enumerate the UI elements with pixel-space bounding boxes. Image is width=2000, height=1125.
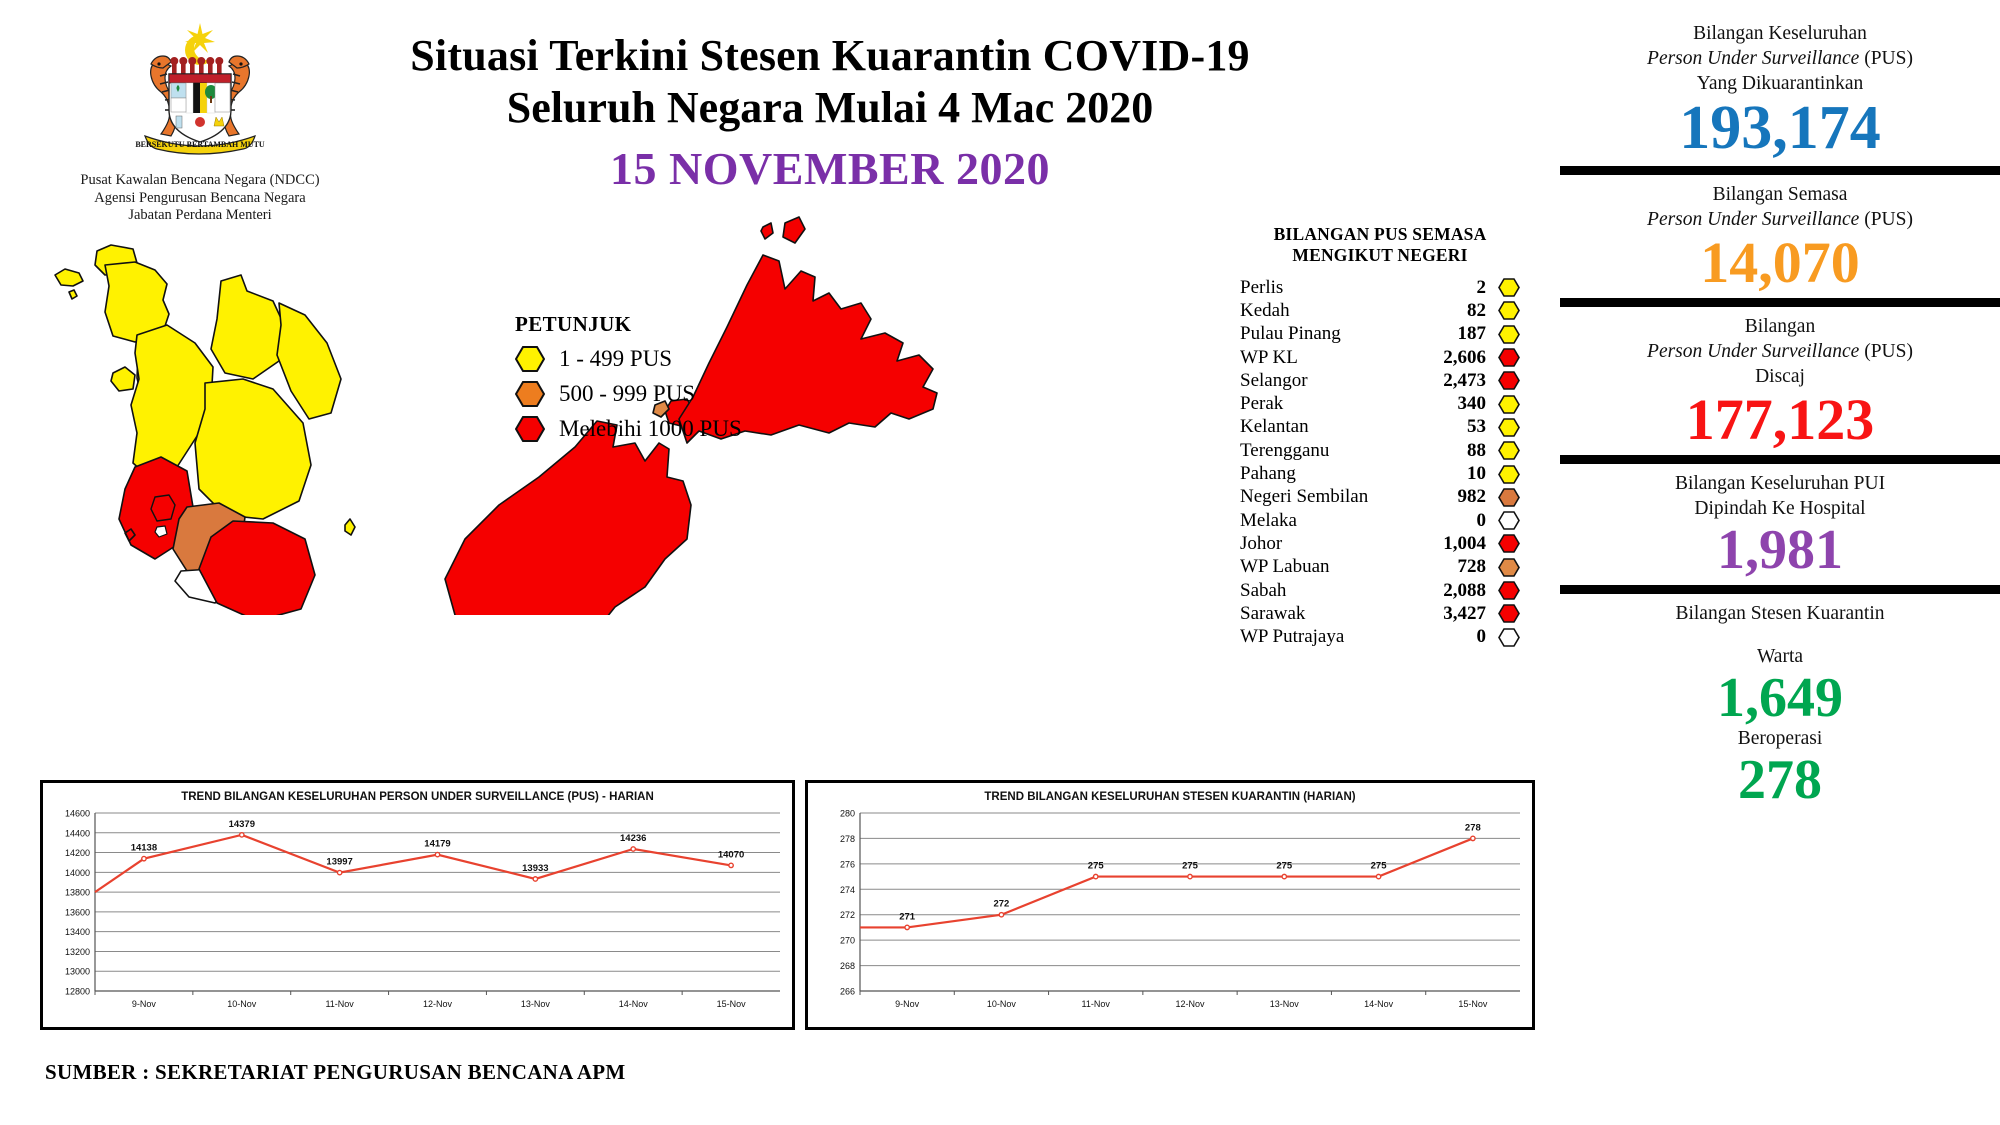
legend-label-yellow: 1 - 499 PUS (559, 346, 672, 372)
state-value: 340 (1416, 393, 1498, 415)
chart-x-tick-label: 11-Nov (1082, 999, 1111, 1009)
source-footer: SUMBER : SEKRETARIAT PENGURUSAN BENCANA … (45, 1060, 626, 1085)
state-name: Kedah (1240, 300, 1416, 322)
infographic-page: BERSEKUTU BERTAMBAH MUTU Pusat Kawalan B… (0, 0, 2000, 1125)
legend-item-orange: 500 - 999 PUS (515, 381, 742, 407)
state-row: Sarawak3,427 (1240, 602, 1520, 625)
state-name: Melaka (1240, 510, 1416, 532)
summary-stat-block: Bilangan SemasaPerson Under Surveillance… (1560, 183, 2000, 292)
chart-x-tick-label: 12-Nov (423, 999, 453, 1009)
chart-y-tick-label: 13200 (65, 947, 90, 957)
stations-title: Bilangan Stesen Kuarantin (1560, 602, 2000, 627)
state-status-hexagon-icon (1498, 371, 1520, 390)
state-row: Sabah2,088 (1240, 579, 1520, 602)
chart-title: TREND BILANGAN KESELURUHAN PERSON UNDER … (181, 791, 654, 803)
legend-label-orange: 500 - 999 PUS (559, 381, 695, 407)
state-status-hexagon-icon (1498, 628, 1520, 647)
state-row: Kelantan53 (1240, 416, 1520, 439)
state-name: WP KL (1240, 347, 1416, 369)
chart-data-point (337, 870, 341, 874)
chart-data-label: 14236 (620, 833, 646, 844)
state-row: Pahang10 (1240, 462, 1520, 485)
chart-data-label: 14070 (718, 849, 744, 860)
chart-data-label: 14179 (424, 839, 450, 850)
legend-label-red: Melebihi 1000 PUS (559, 416, 742, 442)
summary-stat-value: 14,070 (1560, 233, 2000, 292)
crest-caption-line2: Agensi Pengurusan Bencana Negara (60, 190, 340, 208)
state-row: Melaka0 (1240, 509, 1520, 532)
map-region-banggi-island (783, 217, 805, 243)
chart-y-tick-label: 13400 (65, 927, 90, 937)
chart-data-label: 275 (1182, 861, 1199, 872)
state-status-hexagon-icon (1498, 441, 1520, 460)
quarantine-stations-block: Bilangan Stesen Kuarantin Warta 1,649 Be… (1560, 602, 2000, 809)
divider-rule (1560, 166, 2000, 175)
chart-data-point (631, 847, 635, 851)
state-name: Terengganu (1240, 440, 1416, 462)
state-value: 82 (1416, 300, 1498, 322)
state-name: Kelantan (1240, 416, 1416, 438)
legend-hexagon-icon-yellow (515, 346, 545, 372)
map-region-pahang (195, 379, 311, 519)
chart-data-point (1188, 874, 1192, 878)
chart-data-point (1282, 874, 1286, 878)
legend-title: PETUNJUK (515, 312, 742, 337)
chart-data-point (1471, 836, 1475, 840)
state-name: Pahang (1240, 463, 1416, 485)
map-region-wp-kl (151, 495, 175, 521)
map-region-penang-island (111, 367, 135, 391)
chart-y-tick-label: 13800 (65, 888, 90, 898)
chart-y-tick-label: 266 (840, 987, 855, 997)
chart-y-tick-label: 268 (840, 961, 855, 971)
state-table-title: BILANGAN PUS SEMASA MENGIKUT NEGERI (1240, 224, 1520, 266)
state-row: WP Labuan728 (1240, 556, 1520, 579)
chart-data-point (142, 856, 146, 860)
state-value: 0 (1416, 626, 1498, 648)
state-row: Negeri Sembilan982 (1240, 486, 1520, 509)
summary-stat-block: BilanganPerson Under Surveillance (PUS)D… (1560, 315, 2000, 449)
chart-x-tick-label: 10-Nov (227, 999, 257, 1009)
map-region-johor (199, 521, 315, 615)
chart-data-point (1376, 874, 1380, 878)
state-row: Selangor2,473 (1240, 369, 1520, 392)
state-value: 728 (1416, 556, 1498, 578)
summary-stat-label-line2: Person Under Surveillance (PUS) (1560, 340, 2000, 365)
state-status-hexagon-icon (1498, 418, 1520, 437)
chart-y-tick-label: 13000 (65, 967, 90, 977)
chart-data-label: 275 (1371, 861, 1388, 872)
map-legend: PETUNJUK 1 - 499 PUS 500 - 999 PUS Meleb… (515, 312, 742, 451)
state-pus-table: BILANGAN PUS SEMASA MENGIKUT NEGERI Perl… (1240, 224, 1520, 649)
state-row: Terengganu88 (1240, 439, 1520, 462)
chart-data-label: 14138 (131, 843, 157, 854)
chart-data-label: 13933 (522, 863, 548, 874)
chart-x-tick-label: 13-Nov (1270, 999, 1300, 1009)
summary-stat-block: Bilangan KeseluruhanPerson Under Surveil… (1560, 22, 2000, 160)
chart-data-label: 275 (1276, 861, 1293, 872)
chart-data-point (999, 913, 1003, 917)
summary-stat-value: 193,174 (1560, 97, 2000, 160)
chart-x-tick-label: 14-Nov (619, 999, 649, 1009)
summary-stats-list: Bilangan KeseluruhanPerson Under Surveil… (1560, 22, 2000, 579)
state-row: Perlis2 (1240, 276, 1520, 299)
state-value: 53 (1416, 416, 1498, 438)
state-value: 1,004 (1416, 533, 1498, 555)
state-table-title-line2: MENGIKUT NEGERI (1240, 245, 1520, 266)
divider-rule (1560, 585, 2000, 594)
state-status-hexagon-icon (1498, 604, 1520, 623)
crest-caption-line1: Pusat Kawalan Bencana Negara (NDCC) (60, 172, 340, 190)
divider-rule (1560, 455, 2000, 464)
stations-beroperasi-value: 278 (1560, 752, 2000, 809)
legend-item-yellow: 1 - 499 PUS (515, 346, 742, 372)
state-value: 2,606 (1416, 347, 1498, 369)
summary-stat-value: 177,123 (1560, 390, 2000, 449)
map-region-balambangan-island (761, 223, 773, 239)
legend-hexagon-icon-orange (515, 381, 545, 407)
state-value: 2,088 (1416, 580, 1498, 602)
chart-y-tick-label: 13600 (65, 907, 90, 917)
state-name: Negeri Sembilan (1240, 486, 1416, 508)
state-value: 10 (1416, 463, 1498, 485)
summary-stat-label: BilanganPerson Under Surveillance (PUS)D… (1560, 315, 2000, 390)
state-value: 187 (1416, 323, 1498, 345)
map-region-kelantan (211, 275, 285, 379)
summary-stat-value: 1,981 (1560, 522, 2000, 579)
chart-y-tick-label: 278 (840, 834, 855, 844)
stations-warta-value: 1,649 (1560, 670, 2000, 727)
chart-series-line (860, 838, 1473, 927)
page-title-block: Situasi Terkini Stesen Kuarantin COVID-1… (330, 30, 1330, 195)
summary-stat-label-line2: Person Under Surveillance (PUS) (1560, 47, 2000, 72)
map-region-langkawi (55, 269, 83, 299)
page-title-line1: Situasi Terkini Stesen Kuarantin COVID-1… (330, 30, 1330, 82)
state-name: Perak (1240, 393, 1416, 415)
chart-data-label: 275 (1088, 861, 1105, 872)
state-name: WP Labuan (1240, 556, 1416, 578)
chart-x-tick-label: 15-Nov (717, 999, 747, 1009)
chart-title: TREND BILANGAN KESELURUHAN STESEN KUARAN… (984, 791, 1355, 803)
chart-data-label: 278 (1465, 822, 1481, 833)
summary-stats-panel: Bilangan KeseluruhanPerson Under Surveil… (1560, 22, 2000, 809)
divider-rule (1560, 298, 2000, 307)
state-status-hexagon-icon (1498, 325, 1520, 344)
state-status-hexagon-icon (1498, 534, 1520, 553)
summary-stat-block: Bilangan Keseluruhan PUIDipindah Ke Hosp… (1560, 472, 2000, 579)
chart-x-tick-label: 9-Nov (132, 999, 157, 1009)
chart-y-tick-label: 14000 (65, 868, 90, 878)
state-row: Kedah82 (1240, 299, 1520, 322)
state-name: Perlis (1240, 277, 1416, 299)
state-status-hexagon-icon (1498, 278, 1520, 297)
chart-data-point (729, 863, 733, 867)
state-value: 982 (1416, 486, 1498, 508)
state-value: 2,473 (1416, 370, 1498, 392)
chart-data-label: 271 (899, 911, 916, 922)
legend-hexagon-icon-red (515, 416, 545, 442)
state-name: Johor (1240, 533, 1416, 555)
summary-stat-label: Bilangan KeseluruhanPerson Under Surveil… (1560, 22, 2000, 97)
chart-y-tick-label: 12800 (65, 987, 90, 997)
state-status-hexagon-icon (1498, 511, 1520, 530)
state-status-hexagon-icon (1498, 465, 1520, 484)
chart-y-tick-label: 276 (840, 859, 855, 869)
state-status-hexagon-icon (1498, 348, 1520, 367)
state-name: Sabah (1240, 580, 1416, 602)
chart-x-tick-label: 10-Nov (987, 999, 1017, 1009)
state-row: WP KL2,606 (1240, 346, 1520, 369)
state-row: Perak340 (1240, 392, 1520, 415)
chart-y-tick-label: 274 (840, 885, 855, 895)
state-row: Johor1,004 (1240, 532, 1520, 555)
state-value: 3,427 (1416, 603, 1498, 625)
state-value: 0 (1416, 510, 1498, 532)
state-row: Pulau Pinang187 (1240, 323, 1520, 346)
chart-data-point (905, 925, 909, 929)
summary-stat-label-line1: Bilangan Keseluruhan (1560, 22, 2000, 47)
summary-stat-label-line1: Bilangan (1560, 315, 2000, 340)
page-title-line2: Seluruh Negara Mulai 4 Mac 2020 (330, 82, 1330, 134)
summary-stat-label: Bilangan SemasaPerson Under Surveillance… (1560, 183, 2000, 233)
state-value: 2 (1416, 277, 1498, 299)
map-region-terengganu (277, 303, 341, 419)
chart-y-tick-label: 280 (840, 809, 855, 819)
chart-x-tick-label: 15-Nov (1458, 999, 1488, 1009)
malaysia-coat-of-arms-icon: BERSEKUTU BERTAMBAH MUTU (105, 18, 295, 168)
state-status-hexagon-icon (1498, 395, 1520, 414)
state-table-title-line1: BILANGAN PUS SEMASA (1240, 224, 1520, 245)
chart-data-point (240, 833, 244, 837)
chart-x-tick-label: 14-Nov (1364, 999, 1394, 1009)
chart-data-label: 14379 (229, 819, 255, 830)
summary-stat-label: Bilangan Keseluruhan PUIDipindah Ke Hosp… (1560, 472, 2000, 522)
summary-stat-label-line1: Bilangan Keseluruhan PUI (1560, 472, 2000, 497)
state-name: WP Putrajaya (1240, 626, 1416, 648)
chart-data-label: 272 (993, 899, 1009, 910)
report-date: 15 NOVEMBER 2020 (330, 142, 1330, 195)
chart-data-point (1094, 874, 1098, 878)
state-status-hexagon-icon (1498, 301, 1520, 320)
chart-y-tick-label: 270 (840, 936, 855, 946)
chart-x-tick-label: 12-Nov (1175, 999, 1205, 1009)
chart-y-tick-label: 14600 (65, 809, 90, 819)
map-region-tioman-island (345, 519, 355, 535)
summary-stat-label-line1: Bilangan Semasa (1560, 183, 2000, 208)
chart-y-tick-label: 272 (840, 910, 855, 920)
chart-y-tick-label: 14400 (65, 828, 90, 838)
state-status-hexagon-icon (1498, 488, 1520, 507)
chart-data-label: 13997 (326, 857, 352, 868)
chart-data-point (533, 877, 537, 881)
state-name: Selangor (1240, 370, 1416, 392)
legend-item-red: Melebihi 1000 PUS (515, 416, 742, 442)
state-status-hexagon-icon (1498, 581, 1520, 600)
state-row: WP Putrajaya0 (1240, 625, 1520, 648)
chart-data-point (435, 852, 439, 856)
chart-x-tick-label: 13-Nov (521, 999, 551, 1009)
chart-y-tick-label: 14200 (65, 848, 90, 858)
chart-pus-daily: TREND BILANGAN KESELURUHAN PERSON UNDER … (40, 780, 795, 1030)
chart-x-tick-label: 9-Nov (895, 999, 920, 1009)
chart-x-tick-label: 11-Nov (325, 999, 354, 1009)
state-status-hexagon-icon (1498, 558, 1520, 577)
chart-stesen-daily: TREND BILANGAN KESELURUHAN STESEN KUARAN… (805, 780, 1535, 1030)
agency-crest-block: BERSEKUTU BERTAMBAH MUTU Pusat Kawalan B… (60, 18, 340, 225)
state-name: Sarawak (1240, 603, 1416, 625)
state-name: Pulau Pinang (1240, 323, 1416, 345)
state-value: 88 (1416, 440, 1498, 462)
state-table-body: Perlis2Kedah82Pulau Pinang187WP KL2,606S… (1240, 276, 1520, 649)
svg-text:BERSEKUTU BERTAMBAH MUTU: BERSEKUTU BERTAMBAH MUTU (135, 140, 265, 149)
